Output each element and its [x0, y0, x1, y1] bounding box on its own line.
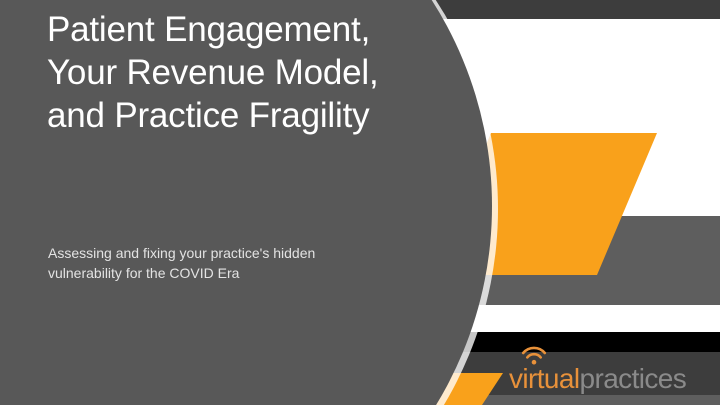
logo-wordmark: virtualpractices: [509, 365, 686, 393]
logo-secondary-text: practices: [580, 363, 687, 394]
subtitle-block: Assessing and fixing your practice's hid…: [48, 244, 388, 284]
title-slide: Patient Engagement, Your Revenue Model, …: [0, 0, 720, 405]
page-title: Patient Engagement, Your Revenue Model, …: [47, 8, 392, 137]
brand-logo: virtualpractices: [509, 348, 686, 393]
wifi-signal-icon: [521, 345, 547, 365]
page-subtitle: Assessing and fixing your practice's hid…: [48, 244, 388, 284]
title-block: Patient Engagement, Your Revenue Model, …: [47, 8, 392, 137]
logo-primary-text: virtual: [509, 363, 580, 394]
